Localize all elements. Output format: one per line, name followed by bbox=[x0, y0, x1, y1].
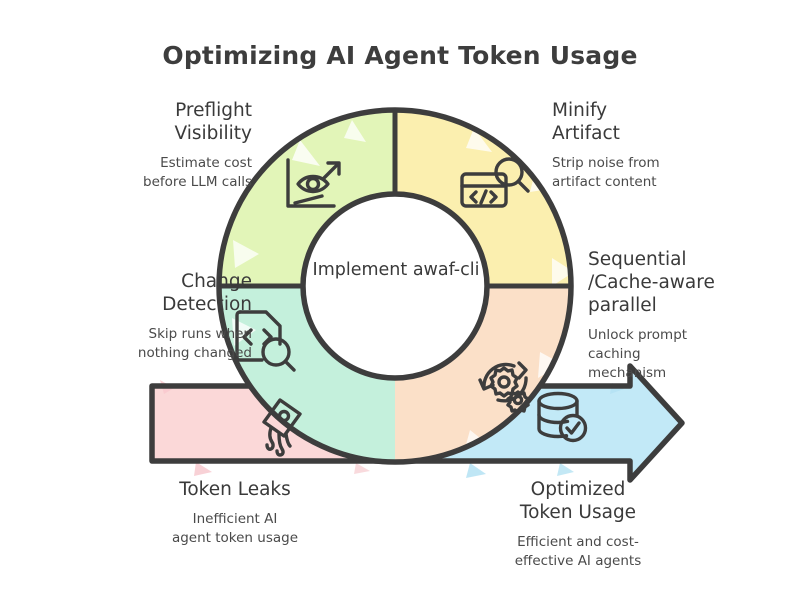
label-sequential-subtext: Unlock prompt caching mechanism bbox=[588, 326, 788, 383]
label-token-leaks-subtext: Inefficient AI agent token usage bbox=[125, 510, 345, 548]
label-preflight-subtext: Estimate cost before LLM calls bbox=[72, 154, 252, 192]
label-token-leaks: Token Leaks Inefficient AI agent token u… bbox=[125, 478, 345, 548]
label-token-leaks-heading: Token Leaks bbox=[125, 478, 345, 501]
label-optimized-heading: Optimized Token Usage bbox=[468, 478, 688, 524]
label-change-heading: Change Detection bbox=[62, 270, 252, 316]
label-preflight-heading: Preflight Visibility bbox=[72, 99, 252, 145]
label-sequential-heading: Sequential /Cache-aware parallel bbox=[588, 248, 788, 317]
label-change-subtext: Skip runs when nothing changed bbox=[62, 325, 252, 363]
label-sequential-cache-aware: Sequential /Cache-aware parallel Unlock … bbox=[588, 248, 788, 383]
label-optimized-token-usage: Optimized Token Usage Efficient and cost… bbox=[468, 478, 688, 571]
center-label: Implement awaf-cli bbox=[300, 258, 492, 283]
label-minify-heading: Minify Artifact bbox=[552, 99, 752, 145]
label-optimized-subtext: Efficient and cost- effective AI agents bbox=[468, 533, 688, 571]
label-minify-subtext: Strip noise from artifact content bbox=[552, 154, 752, 192]
label-preflight-visibility: Preflight Visibility Estimate cost befor… bbox=[72, 99, 252, 192]
label-minify-artifact: Minify Artifact Strip noise from artifac… bbox=[552, 99, 752, 192]
label-change-detection: Change Detection Skip runs when nothing … bbox=[62, 270, 252, 363]
